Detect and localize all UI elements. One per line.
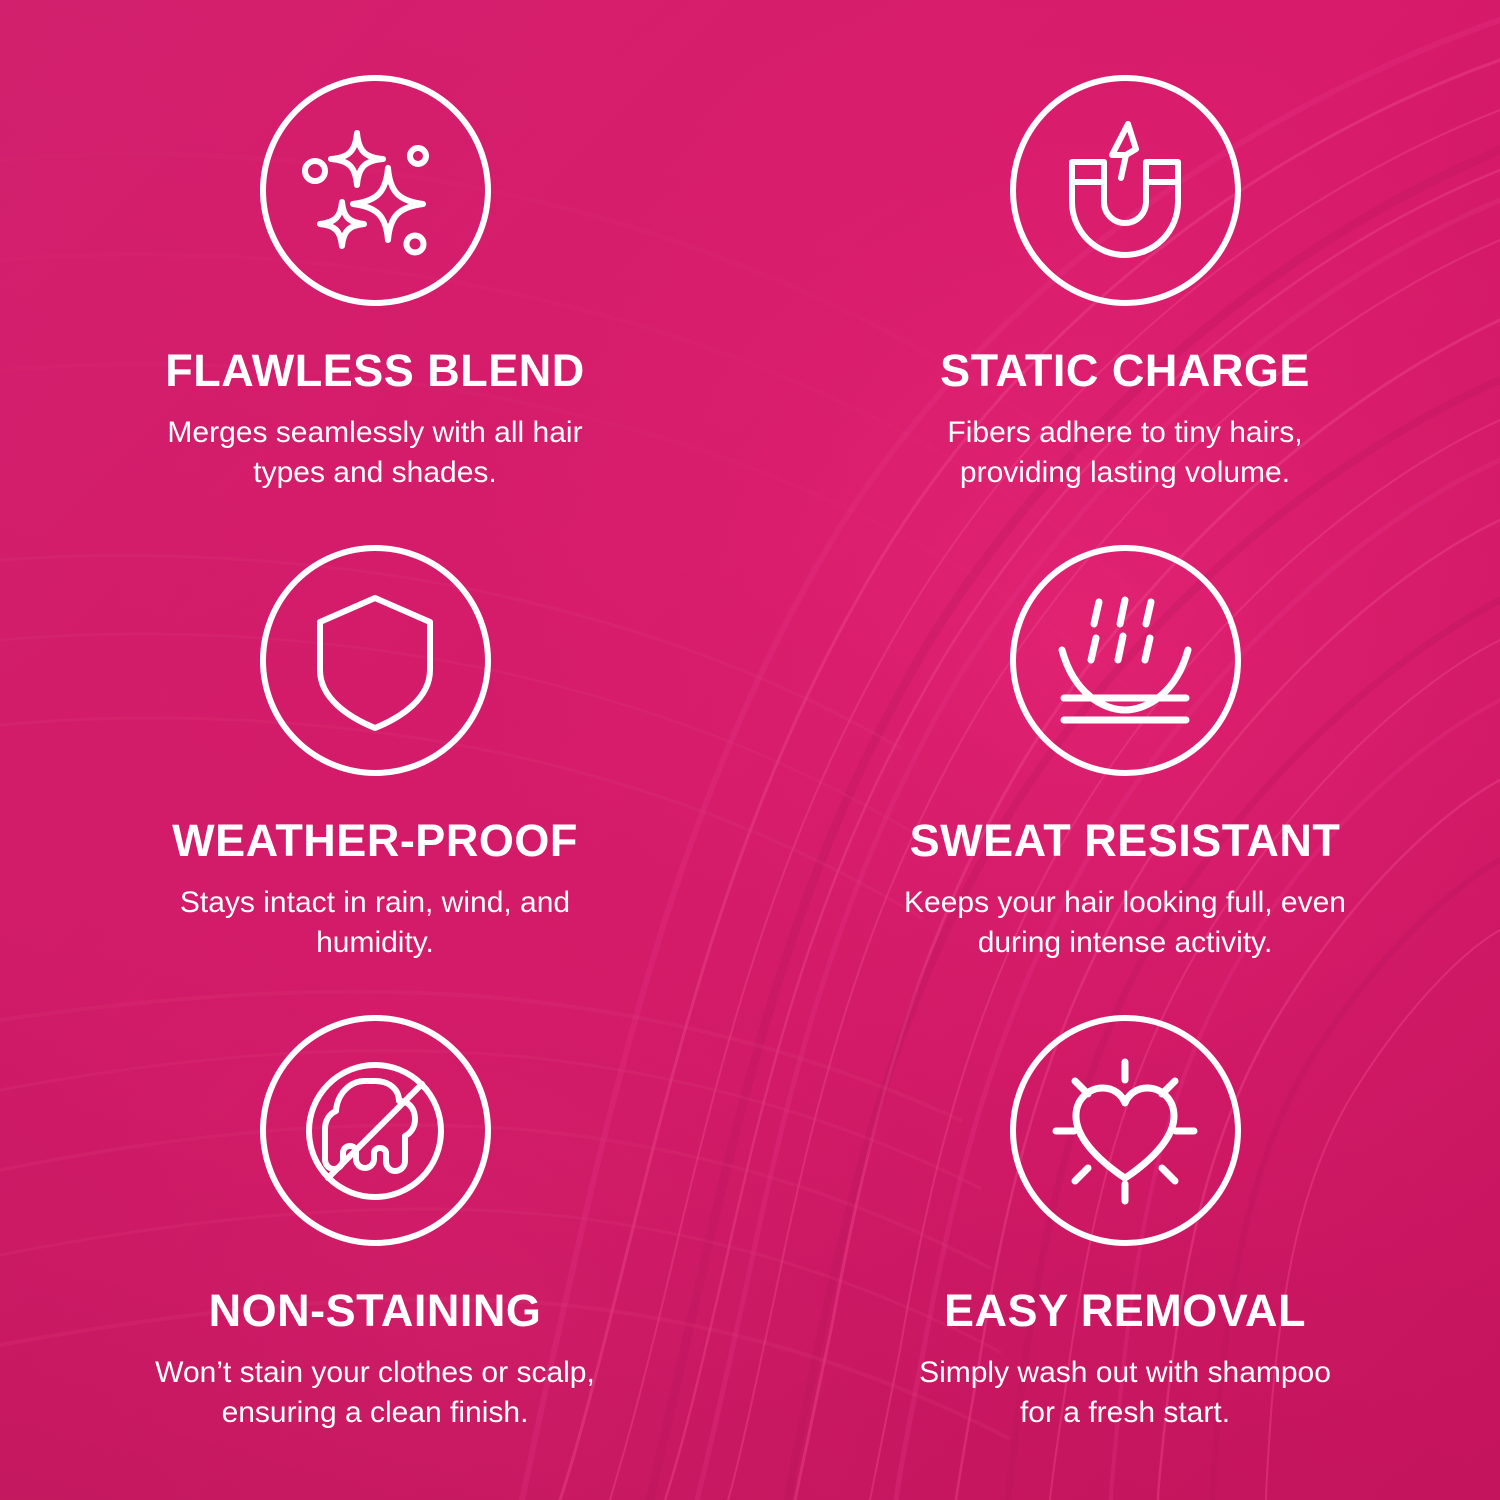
- desc-line-1: Keeps your hair looking full, even: [904, 886, 1346, 919]
- feature-title: SWEAT RESISTANT: [910, 817, 1341, 864]
- no-stain-icon: [260, 1015, 491, 1246]
- feature-description: Won’t stain your clothes or scalp, ensur…: [155, 1353, 595, 1433]
- magnet-icon: [1010, 75, 1241, 306]
- desc-line-1: Won’t stain your clothes or scalp,: [155, 1356, 595, 1389]
- feature-title: WEATHER-PROOF: [172, 817, 578, 864]
- feature-weather-proof: WEATHER-PROOF Stays intact in rain, wind…: [0, 470, 750, 940]
- feature-static-charge: STATIC CHARGE Fibers adhere to tiny hair…: [750, 0, 1500, 470]
- feature-title: EASY REMOVAL: [944, 1287, 1306, 1334]
- feature-sweat-resistant: SWEAT RESISTANT Keeps your hair looking …: [750, 470, 1500, 940]
- feature-flawless-blend: FLAWLESS BLEND Merges seamlessly with al…: [0, 0, 750, 470]
- desc-line-2: for a fresh start.: [1020, 1396, 1230, 1429]
- desc-line-2: ensuring a clean finish.: [222, 1396, 529, 1429]
- feature-description: Simply wash out with shampoo for a fresh…: [919, 1353, 1331, 1433]
- water-repellent-icon: [1010, 545, 1241, 776]
- sparkles-icon: [260, 75, 491, 306]
- shield-icon: [260, 545, 491, 776]
- benefits-infographic: FLAWLESS BLEND Merges seamlessly with al…: [0, 0, 1500, 1500]
- feature-title: FLAWLESS BLEND: [165, 347, 585, 394]
- shining-heart-icon: [1010, 1015, 1241, 1246]
- desc-line-1: Merges seamlessly with all hair: [167, 416, 582, 449]
- desc-line-1: Fibers adhere to tiny hairs,: [947, 416, 1302, 449]
- desc-line-1: Stays intact in rain, wind, and: [180, 886, 570, 919]
- features-grid: FLAWLESS BLEND Merges seamlessly with al…: [0, 0, 1500, 1500]
- feature-non-staining: NON-STAINING Won’t stain your clothes or…: [0, 940, 750, 1440]
- feature-title: STATIC CHARGE: [940, 347, 1310, 394]
- desc-line-1: Simply wash out with shampoo: [919, 1356, 1331, 1389]
- feature-title: NON-STAINING: [209, 1287, 542, 1334]
- feature-easy-removal: EASY REMOVAL Simply wash out with shampo…: [750, 940, 1500, 1440]
